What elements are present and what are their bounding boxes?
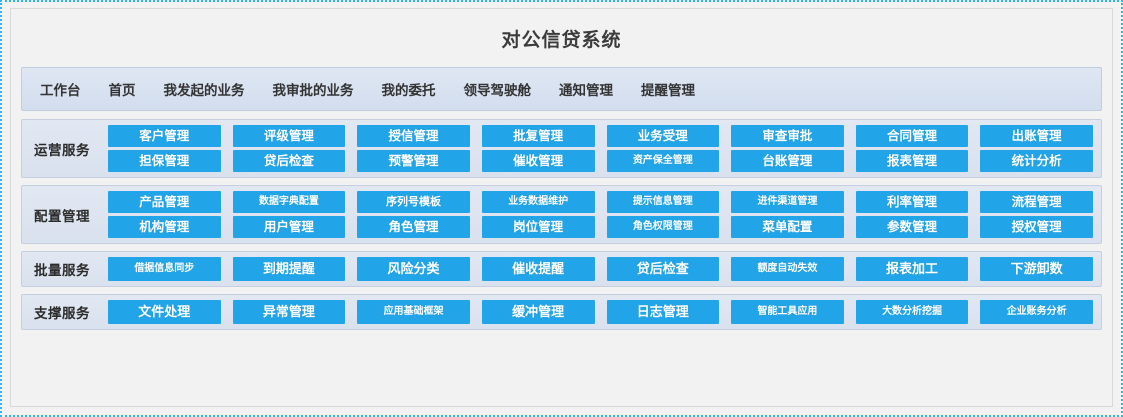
section-tile-grid-1: 产品管理数据字典配置序列号模板业务数据维护提示信息管理进件渠道管理利率管理流程管… <box>108 191 1093 238</box>
page-title: 对公信贷系统 <box>501 25 621 52</box>
module-tile[interactable]: 贷后检查 <box>607 257 720 281</box>
section-group-2: 批量服务借据信息同步到期提醒风险分类催收提醒贷后检查额度自动失效报表加工下游卸数 <box>21 251 1102 287</box>
page-title-bar: 对公信贷系统 <box>11 9 1112 67</box>
module-tile[interactable]: 报表加工 <box>856 257 969 281</box>
module-tile[interactable]: 风险分类 <box>357 257 470 281</box>
module-tile[interactable]: 流程管理 <box>980 191 1093 213</box>
module-tile[interactable]: 角色权限管理 <box>607 216 720 238</box>
module-tile[interactable]: 缓冲管理 <box>482 300 595 324</box>
section-label-3: 支撑服务 <box>34 302 108 322</box>
module-tile[interactable]: 用户管理 <box>233 216 346 238</box>
module-tile[interactable]: 批复管理 <box>482 125 595 147</box>
nav-item-7[interactable]: 提醒管理 <box>641 79 695 99</box>
app-content-panel: 对公信贷系统 工作台首页我发起的业务我审批的业务我的委托领导驾驶舱通知管理提醒管… <box>10 8 1113 407</box>
module-tile[interactable]: 产品管理 <box>108 191 221 213</box>
module-tile[interactable]: 资产保全管理 <box>607 150 720 172</box>
module-tile[interactable]: 企业账务分析 <box>980 300 1093 324</box>
app-window: 对公信贷系统 工作台首页我发起的业务我审批的业务我的委托领导驾驶舱通知管理提醒管… <box>0 0 1123 417</box>
module-tile[interactable]: 统计分析 <box>980 150 1093 172</box>
module-tile[interactable]: 利率管理 <box>856 191 969 213</box>
section-tile-grid-3: 文件处理异常管理应用基础框架缓冲管理日志管理智能工具应用大数分析挖掘企业账务分析 <box>108 300 1093 324</box>
module-tile[interactable]: 下游卸数 <box>980 257 1093 281</box>
module-tile[interactable]: 额度自动失效 <box>731 257 844 281</box>
module-tile[interactable]: 合同管理 <box>856 125 969 147</box>
module-tile[interactable]: 进件渠道管理 <box>731 191 844 213</box>
nav-item-6[interactable]: 通知管理 <box>559 79 613 99</box>
section-group-0: 运营服务客户管理评级管理授信管理批复管理业务受理审查审批合同管理出账管理担保管理… <box>21 119 1102 178</box>
module-tile[interactable]: 数据字典配置 <box>233 191 346 213</box>
module-tile[interactable]: 异常管理 <box>233 300 346 324</box>
section-group-3: 支撑服务文件处理异常管理应用基础框架缓冲管理日志管理智能工具应用大数分析挖掘企业… <box>21 294 1102 330</box>
module-tile[interactable]: 预警管理 <box>357 150 470 172</box>
module-tile[interactable]: 评级管理 <box>233 125 346 147</box>
nav-item-0[interactable]: 工作台 <box>40 79 81 99</box>
module-tile[interactable]: 大数分析挖掘 <box>856 300 969 324</box>
module-tile[interactable]: 借据信息同步 <box>108 257 221 281</box>
nav-item-3[interactable]: 我审批的业务 <box>273 79 354 99</box>
module-tile[interactable]: 出账管理 <box>980 125 1093 147</box>
module-tile[interactable]: 角色管理 <box>357 216 470 238</box>
section-label-2: 批量服务 <box>34 259 108 279</box>
module-tile[interactable]: 业务受理 <box>607 125 720 147</box>
module-tile[interactable]: 岗位管理 <box>482 216 595 238</box>
module-tile[interactable]: 贷后检查 <box>233 150 346 172</box>
section-label-1: 配置管理 <box>34 205 108 225</box>
module-tile[interactable]: 报表管理 <box>856 150 969 172</box>
module-tile[interactable]: 提示信息管理 <box>607 191 720 213</box>
module-tile[interactable]: 客户管理 <box>108 125 221 147</box>
section-label-0: 运营服务 <box>34 139 108 159</box>
nav-item-4[interactable]: 我的委托 <box>382 79 436 99</box>
nav-item-1[interactable]: 首页 <box>109 79 136 99</box>
module-tile[interactable]: 授信管理 <box>357 125 470 147</box>
module-tile[interactable]: 台账管理 <box>731 150 844 172</box>
module-tile[interactable]: 日志管理 <box>607 300 720 324</box>
section-tile-grid-2: 借据信息同步到期提醒风险分类催收提醒贷后检查额度自动失效报表加工下游卸数 <box>108 257 1093 281</box>
module-tile[interactable]: 参数管理 <box>856 216 969 238</box>
section-tile-grid-0: 客户管理评级管理授信管理批复管理业务受理审查审批合同管理出账管理担保管理贷后检查… <box>108 125 1093 172</box>
module-tile[interactable]: 催收管理 <box>482 150 595 172</box>
module-tile[interactable]: 智能工具应用 <box>731 300 844 324</box>
module-tile[interactable]: 到期提醒 <box>233 257 346 281</box>
section-group-1: 配置管理产品管理数据字典配置序列号模板业务数据维护提示信息管理进件渠道管理利率管… <box>21 185 1102 244</box>
nav-item-2[interactable]: 我发起的业务 <box>164 79 245 99</box>
module-sections: 运营服务客户管理评级管理授信管理批复管理业务受理审查审批合同管理出账管理担保管理… <box>11 119 1112 406</box>
module-tile[interactable]: 担保管理 <box>108 150 221 172</box>
module-tile[interactable]: 序列号模板 <box>357 191 470 213</box>
module-tile[interactable]: 审查审批 <box>731 125 844 147</box>
module-tile[interactable]: 菜单配置 <box>731 216 844 238</box>
module-tile[interactable]: 业务数据维护 <box>482 191 595 213</box>
module-tile[interactable]: 机构管理 <box>108 216 221 238</box>
module-tile[interactable]: 文件处理 <box>108 300 221 324</box>
main-navigation-bar: 工作台首页我发起的业务我审批的业务我的委托领导驾驶舱通知管理提醒管理 <box>21 67 1102 111</box>
module-tile[interactable]: 催收提醒 <box>482 257 595 281</box>
module-tile[interactable]: 授权管理 <box>980 216 1093 238</box>
nav-item-5[interactable]: 领导驾驶舱 <box>464 79 532 99</box>
module-tile[interactable]: 应用基础框架 <box>357 300 470 324</box>
